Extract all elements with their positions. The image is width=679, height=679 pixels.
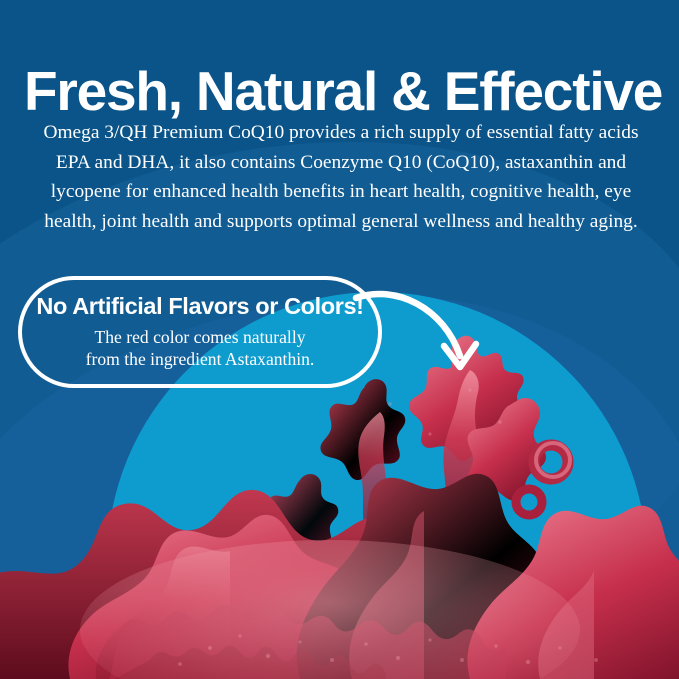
callout-subtext: The red color comes naturally from the i… [86,326,315,370]
page-title: Fresh, Natural & Effective [24,61,664,123]
no-artificial-callout: No Artificial Flavors or Colors! The red… [18,276,382,388]
product-infographic: Fresh, Natural & Effective Omega 3/QH Pr… [0,0,679,679]
callout-title: No Artificial Flavors or Colors! [36,294,363,320]
product-description: Omega 3/QH Premium CoQ10 provides a rich… [26,118,656,236]
callout-subtext-line2: from the ingredient Astaxanthin. [86,349,315,369]
callout-subtext-line1: The red color comes naturally [94,327,305,347]
